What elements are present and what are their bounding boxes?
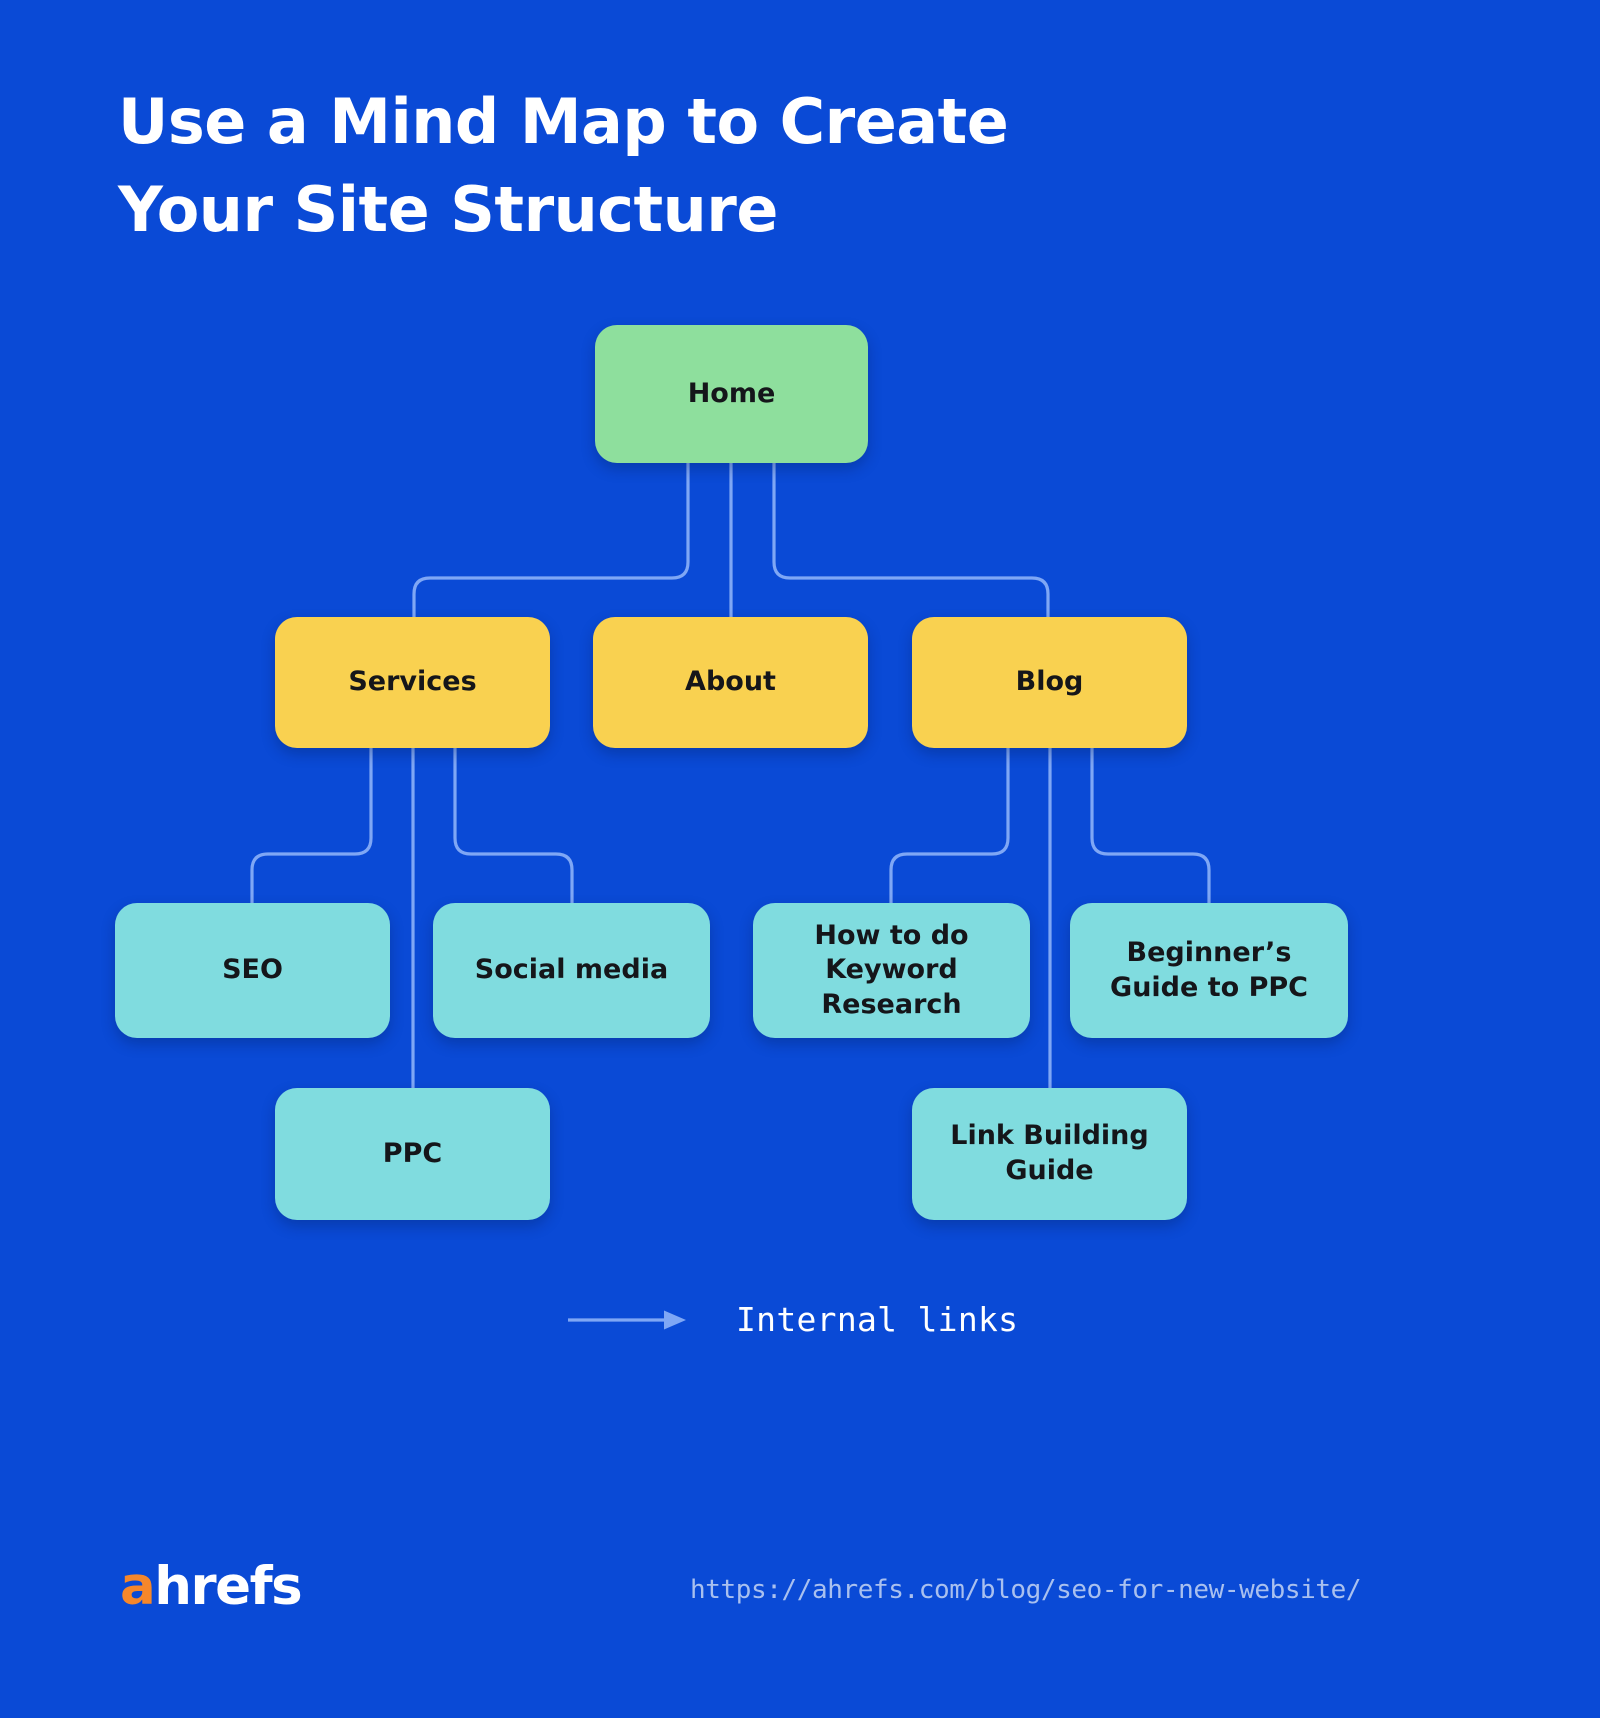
legend-label: Internal links xyxy=(736,1300,1018,1339)
source-url: https://ahrefs.com/blog/seo-for-new-webs… xyxy=(690,1575,1361,1605)
node-social-media[interactable]: Social media xyxy=(433,903,710,1038)
node-ppc-guide[interactable]: Beginner’s Guide to PPC xyxy=(1070,903,1348,1038)
logo-letter-a: a xyxy=(120,1556,154,1617)
node-home[interactable]: Home xyxy=(595,325,868,463)
node-ppc[interactable]: PPC xyxy=(275,1088,550,1220)
node-about[interactable]: About xyxy=(593,617,868,748)
legend: Internal links xyxy=(568,1300,1018,1339)
internal-link-arrow-icon xyxy=(568,1307,688,1333)
ahrefs-logo: ahrefs xyxy=(120,1560,301,1613)
logo-wordmark: hrefs xyxy=(154,1556,301,1617)
node-services[interactable]: Services xyxy=(275,617,550,748)
node-keyword-research[interactable]: How to do Keyword Research xyxy=(753,903,1030,1038)
infographic-canvas: Use a Mind Map to Create Your Site Struc… xyxy=(0,0,1600,1718)
connector-layer xyxy=(0,0,1600,1718)
node-link-building-guide[interactable]: Link Building Guide xyxy=(912,1088,1187,1220)
node-blog[interactable]: Blog xyxy=(912,617,1187,748)
node-seo[interactable]: SEO xyxy=(115,903,390,1038)
page-title: Use a Mind Map to Create Your Site Struc… xyxy=(118,78,1218,254)
